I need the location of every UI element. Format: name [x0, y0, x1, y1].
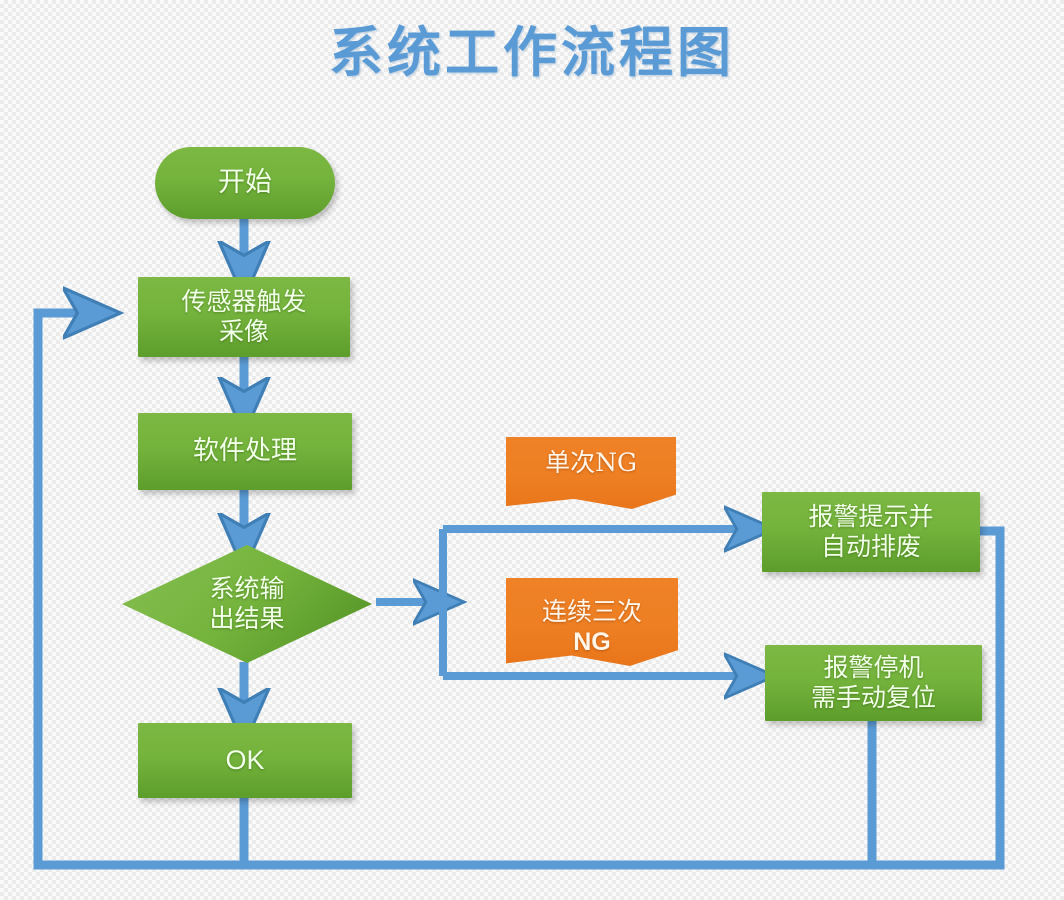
node-alarm-stop-line2: 需手动复位 — [811, 683, 936, 714]
node-alarm-reject[interactable]: 报警提示并 自动排废 — [762, 492, 980, 572]
node-ok-label: OK — [225, 744, 264, 777]
node-alarm-reject-line2: 自动排废 — [821, 532, 921, 563]
label-triple-ng[interactable]: 连续三次 NG — [506, 578, 678, 666]
node-alarm-stop[interactable]: 报警停机 需手动复位 — [765, 645, 982, 721]
node-software-label: 软件处理 — [193, 436, 297, 468]
node-decision-line1: 系统输 — [209, 574, 284, 605]
label-single-ng[interactable]: 单次NG — [506, 437, 676, 509]
node-alarm-stop-line1: 报警停机 — [823, 653, 923, 684]
flowchart-canvas: 系统工作流程图 — [0, 0, 1064, 900]
node-ok[interactable]: OK — [138, 723, 352, 798]
node-sensor-line1: 传感器触发 — [181, 287, 306, 318]
label-single-ng-text: 单次NG — [545, 437, 637, 478]
node-sensor-line2: 采像 — [219, 317, 269, 348]
node-decision-line2: 出结果 — [209, 604, 284, 635]
node-start-label: 开始 — [218, 167, 272, 200]
label-triple-ng-line2: NG — [573, 627, 611, 658]
node-start[interactable]: 开始 — [155, 147, 335, 219]
node-alarm-reject-line1: 报警提示并 — [808, 502, 933, 533]
label-triple-ng-line1: 连续三次 — [542, 586, 642, 627]
node-sensor-trigger[interactable]: 传感器触发 采像 — [138, 277, 350, 357]
node-software-processing[interactable]: 软件处理 — [138, 413, 352, 490]
